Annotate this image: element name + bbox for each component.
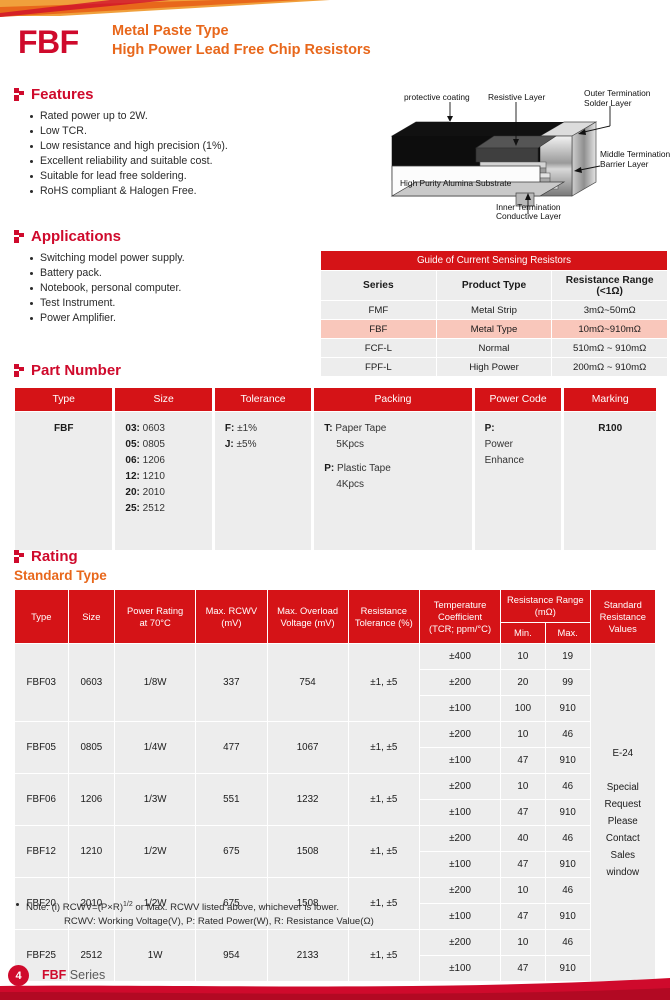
note-line-2: RCWV: Working Voltage(V), P: Rated Power… <box>16 915 656 929</box>
guide-caption: Guide of Current Sensing Resistors <box>321 251 668 271</box>
rt-tcr: ±100 <box>420 800 501 826</box>
page-header: FBF Metal Paste Type High Power Lead Fre… <box>0 22 670 72</box>
note-formula-post: or Max. RCWV listed above, whichever is … <box>133 902 339 913</box>
guide-header-2: Resistance Range (<1Ω) <box>552 271 668 301</box>
rt-max-overload: 1232 <box>267 774 348 826</box>
chip-construction-diagram: High Purity Alumina Substrate protective… <box>388 88 670 220</box>
pn-type-value: FBF <box>15 412 114 551</box>
rt-header-type: Type <box>15 590 69 644</box>
rt-size: 1206 <box>68 774 115 826</box>
pn-header-4: Power Code <box>473 388 563 412</box>
table-caption-row: Guide of Current Sensing Resistors <box>321 251 668 271</box>
rt-header-resistance-range: Resistance Range(mΩ) <box>500 590 590 623</box>
rt-res-max: 46 <box>545 722 590 748</box>
rating-subtitle: Standard Type <box>14 568 656 583</box>
rt-res-min: 40 <box>500 826 545 852</box>
pn-tolerance-option: J: ±5% <box>225 437 301 453</box>
rt-res-max: 46 <box>545 930 590 956</box>
list-item: Power Amplifier. <box>30 311 314 326</box>
subtitle-line-1: Metal Paste Type <box>112 22 371 41</box>
table-header-row: SeriesProduct TypeResistance Range (<1Ω) <box>321 271 668 301</box>
pn-tolerance-cell: F: ±1%J: ±5% <box>213 412 312 551</box>
guide-product-type: Metal Type <box>436 320 552 339</box>
part-number-title: Part Number <box>31 362 121 379</box>
pn-header-5: Marking <box>563 388 656 412</box>
pn-packing-option: T: Paper Tape5Kpcs <box>324 421 461 453</box>
rt-res-max: 46 <box>545 826 590 852</box>
list-item: Excellent reliability and suitable cost. <box>30 154 334 169</box>
middle-termination-label-1: Middle Termination <box>600 149 670 159</box>
features-section: Features Rated power up to 2W. Low TCR. … <box>14 86 334 199</box>
rt-tcr: ±200 <box>420 826 501 852</box>
table-header-row: TypeSizeTolerancePackingPower CodeMarkin… <box>15 388 657 412</box>
table-row: FBF0306031/8W337754±1, ±5±4001019E-24 Sp… <box>15 644 656 670</box>
pn-size-option: 20: 2010 <box>125 485 201 501</box>
applications-heading: Applications <box>14 228 314 245</box>
rt-header-max-overload: Max. OverloadVoltage (mV) <box>267 590 348 644</box>
rt-type: FBF03 <box>15 644 69 722</box>
rt-tcr: ±100 <box>420 852 501 878</box>
rt-res-max: 19 <box>545 644 590 670</box>
rt-res-min: 100 <box>500 696 545 722</box>
pn-size-option: 25: 2512 <box>125 501 201 517</box>
pn-size-option: 06: 1206 <box>125 453 201 469</box>
pn-header-2: Tolerance <box>213 388 312 412</box>
rt-header-tolerance: ResistanceTolerance (%) <box>348 590 420 644</box>
brand-title: FBF <box>18 24 79 61</box>
pn-packing-option: P: Plastic Tape4Kpcs <box>324 461 461 493</box>
rt-tolerance: ±1, ±5 <box>348 826 420 878</box>
substrate-label: High Purity Alumina Substrate <box>400 178 512 188</box>
rt-standard-resistance-values: E-24 SpecialRequestPleaseContactSaleswin… <box>590 644 655 982</box>
rt-tcr: ±100 <box>420 696 501 722</box>
rt-header-size: Size <box>68 590 115 644</box>
rating-heading: Rating <box>14 548 656 565</box>
rt-power-rating: 1/8W <box>115 644 196 722</box>
rt-type: FBF05 <box>15 722 69 774</box>
pn-size-option: 03: 0603 <box>125 421 201 437</box>
pn-size-cell: 03: 060305: 080506: 120612: 121020: 2010… <box>114 412 213 551</box>
guide-series: FMF <box>321 301 437 320</box>
resistive-layer-label: Resistive Layer <box>488 92 545 102</box>
outer-termination-label-1: Outer Termination <box>584 88 651 98</box>
pn-size-option: 12: 1210 <box>125 469 201 485</box>
table-row: FBF0612061/3W5511232±1, ±5±2001046 <box>15 774 656 800</box>
rt-res-min: 10 <box>500 722 545 748</box>
section-marker-icon <box>14 230 24 243</box>
features-heading: Features <box>14 86 334 103</box>
guide-product-type: Normal <box>436 339 552 358</box>
rt-tcr: ±200 <box>420 670 501 696</box>
note-formula-pre: Note: (i) RCWV=(P×R) <box>26 902 123 913</box>
pn-packing-qty: 4Kpcs <box>324 477 461 493</box>
rating-title: Rating <box>31 548 78 565</box>
note-line-1: Note: (i) RCWV=(P×R)1/2 or Max. RCWV lis… <box>16 898 656 915</box>
rt-max-overload: 1508 <box>267 826 348 878</box>
rt-res-max: 910 <box>545 852 590 878</box>
pn-power-code-cell: P:PowerEnhance <box>473 412 563 551</box>
rt-tolerance: ±1, ±5 <box>348 722 420 774</box>
footer-brand: FBF <box>42 968 66 982</box>
table-header-row: TypeSizePower Ratingat 70°CMax. RCWV(mV)… <box>15 590 656 623</box>
pn-tolerance-option: F: ±1% <box>225 421 301 437</box>
footer-series-label: FBF Series <box>42 968 105 982</box>
page-number-badge: 4 <box>8 965 29 986</box>
rt-res-min: 10 <box>500 644 545 670</box>
pn-packing-qty: 5Kpcs <box>324 437 461 453</box>
rt-tcr: ±200 <box>420 774 501 800</box>
applications-section: Applications Switching model power suppl… <box>14 228 314 326</box>
part-number-heading: Part Number <box>14 362 656 379</box>
part-number-section: Part Number TypeSizeTolerancePackingPowe… <box>14 362 656 551</box>
guide-resistance-range: 510mΩ ~ 910mΩ <box>552 339 668 358</box>
rt-type: FBF12 <box>15 826 69 878</box>
guide-table-section: Guide of Current Sensing ResistorsSeries… <box>320 250 668 377</box>
applications-title: Applications <box>31 228 121 245</box>
rt-header-max-rcwv: Max. RCWV(mV) <box>196 590 268 644</box>
rt-power-rating: 1/2W <box>115 826 196 878</box>
table-row: FCF-LNormal510mΩ ~ 910mΩ <box>321 339 668 358</box>
rt-tcr: ±200 <box>420 722 501 748</box>
rt-max-rcwv: 551 <box>196 774 268 826</box>
outer-termination-label-2: Solder Layer <box>584 98 632 108</box>
rt-max-rcwv: 675 <box>196 826 268 878</box>
rt-res-min: 47 <box>500 800 545 826</box>
guide-header-1: Product Type <box>436 271 552 301</box>
rt-power-rating: 1/3W <box>115 774 196 826</box>
table-row: FBF2525121W9542133±1, ±5±2001046 <box>15 930 656 956</box>
pn-packing-cell: T: Paper Tape5KpcsP: Plastic Tape4Kpcs <box>313 412 473 551</box>
list-item: Suitable for lead free soldering. <box>30 169 334 184</box>
list-item: Low TCR. <box>30 124 334 139</box>
list-item: Notebook, personal computer. <box>30 281 314 296</box>
note-formula-exponent: 1/2 <box>123 901 133 908</box>
table-row: FBF1212101/2W6751508±1, ±5±2004046 <box>15 826 656 852</box>
table-row: FBF03: 060305: 080506: 120612: 121020: 2… <box>15 412 657 551</box>
rt-res-max: 910 <box>545 696 590 722</box>
rt-tolerance: ±1, ±5 <box>348 774 420 826</box>
part-number-table: TypeSizeTolerancePackingPower CodeMarkin… <box>14 387 656 551</box>
rt-res-max: 99 <box>545 670 590 696</box>
pn-power-code-line2: Power <box>485 437 552 453</box>
rt-size: 1210 <box>68 826 115 878</box>
rt-tcr: ±400 <box>420 644 501 670</box>
subtitle-line-2: High Power Lead Free Chip Resistors <box>112 41 371 60</box>
rt-max-rcwv: 337 <box>196 644 268 722</box>
rt-tcr: ±100 <box>420 748 501 774</box>
rt-header-res-min: Min. <box>500 623 545 644</box>
rt-res-min: 20 <box>500 670 545 696</box>
section-marker-icon <box>14 88 24 101</box>
rt-res-min: 10 <box>500 774 545 800</box>
rt-res-max: 910 <box>545 800 590 826</box>
rt-res-min: 47 <box>500 852 545 878</box>
list-item: Test Instrument. <box>30 296 314 311</box>
top-decoration-band <box>0 0 670 18</box>
guide-header-0: Series <box>321 271 437 301</box>
rt-header-power-rating: Power Ratingat 70°C <box>115 590 196 644</box>
pn-power-code-line3: Enhance <box>485 453 552 469</box>
rt-header-standard-values: StandardResistanceValues <box>590 590 655 644</box>
rt-max-overload: 754 <box>267 644 348 722</box>
guide-table: Guide of Current Sensing ResistorsSeries… <box>320 250 668 377</box>
guide-resistance-range: 10mΩ~910mΩ <box>552 320 668 339</box>
rt-power-rating: 1/4W <box>115 722 196 774</box>
middle-termination-label-2: Barrier Layer <box>600 159 649 169</box>
rt-res-max: 46 <box>545 774 590 800</box>
pn-header-1: Size <box>114 388 213 412</box>
rt-size: 0603 <box>68 644 115 722</box>
section-marker-icon <box>14 364 24 377</box>
guide-resistance-range: 3mΩ~50mΩ <box>552 301 668 320</box>
rt-type: FBF06 <box>15 774 69 826</box>
list-item: Switching model power supply. <box>30 251 314 266</box>
rt-max-rcwv: 477 <box>196 722 268 774</box>
footer-series-word: Series <box>70 968 105 982</box>
rt-header-res-max: Max. <box>545 623 590 644</box>
protective-coating-label: protective coating <box>404 92 470 102</box>
features-title: Features <box>31 86 94 103</box>
rt-res-min: 10 <box>500 930 545 956</box>
guide-series: FCF-L <box>321 339 437 358</box>
rt-header-tcr: TemperatureCoefficient(TCR; ppm/°C) <box>420 590 501 644</box>
guide-series: FBF <box>321 320 437 339</box>
pn-header-0: Type <box>15 388 114 412</box>
pn-size-option: 05: 0805 <box>125 437 201 453</box>
page-footer: 4 FBF Series <box>0 958 670 1000</box>
list-item: Battery pack. <box>30 266 314 281</box>
features-list: Rated power up to 2W. Low TCR. Low resis… <box>14 109 334 199</box>
rt-res-max: 910 <box>545 748 590 774</box>
table-row: FBFMetal Type10mΩ~910mΩ <box>321 320 668 339</box>
guide-product-type: Metal Strip <box>436 301 552 320</box>
inner-termination-label-2: Conductive Layer <box>496 211 561 220</box>
rt-tolerance: ±1, ±5 <box>348 644 420 722</box>
rt-max-overload: 1067 <box>267 722 348 774</box>
section-marker-icon <box>14 550 24 563</box>
rt-size: 0805 <box>68 722 115 774</box>
table-row: FMFMetal Strip3mΩ~50mΩ <box>321 301 668 320</box>
product-subtitle: Metal Paste Type High Power Lead Free Ch… <box>112 22 371 60</box>
list-item: RoHS compliant & Halogen Free. <box>30 184 334 199</box>
list-item: Low resistance and high precision (1%). <box>30 139 334 154</box>
rt-tcr: ±200 <box>420 930 501 956</box>
pn-power-code-option: P: <box>485 421 552 437</box>
list-item: Rated power up to 2W. <box>30 109 334 124</box>
pn-header-3: Packing <box>313 388 473 412</box>
pn-marking-value: R100 <box>563 412 656 551</box>
note-block: Note: (i) RCWV=(P×R)1/2 or Max. RCWV lis… <box>16 898 656 929</box>
table-row: FBF0508051/4W4771067±1, ±5±2001046 <box>15 722 656 748</box>
rt-res-min: 47 <box>500 748 545 774</box>
applications-list: Switching model power supply. Battery pa… <box>14 251 314 326</box>
